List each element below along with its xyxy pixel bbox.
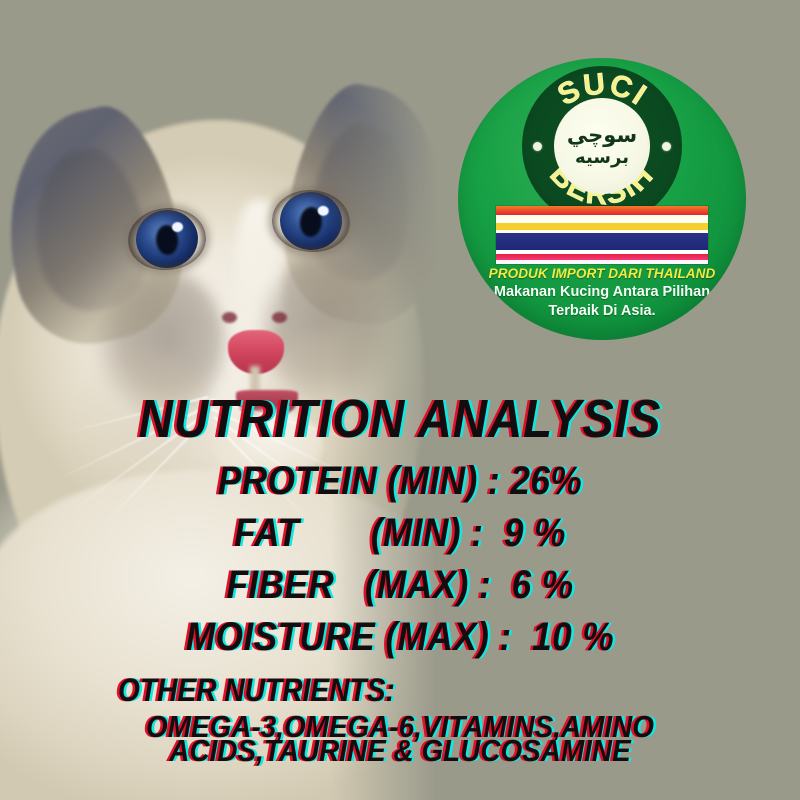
seal-dot-left-icon bbox=[533, 142, 542, 151]
suci-bersih-seal: SUCI BERSIH سوچي برسيه bbox=[522, 66, 682, 226]
seal-inner-disc: سوچي برسيه bbox=[554, 98, 650, 194]
cat-nostril-right bbox=[272, 312, 287, 323]
nutrition-row-fat: FAT (MIN) : 9 % bbox=[234, 511, 566, 556]
jawi-text-suci: سوچي bbox=[567, 124, 637, 148]
poster-canvas: SUCI BERSIH سوچي برسيه PRODUK IMPORT DAR… bbox=[0, 0, 800, 800]
cat-nostril-left bbox=[222, 312, 237, 323]
nutrition-row-moisture: MOISTURE (MAX) : 10 % bbox=[186, 615, 614, 660]
badge-caption-origin: PRODUK IMPORT DARI THAILAND bbox=[458, 266, 746, 281]
jawi-text-bersih: برسيه bbox=[575, 148, 629, 168]
thailand-flag-icon bbox=[496, 206, 708, 264]
badge-caption-line-3: Terbaik Di Asia. bbox=[458, 303, 746, 319]
halal-badge: SUCI BERSIH سوچي برسيه PRODUK IMPORT DAR… bbox=[458, 58, 746, 340]
badge-caption-line-2: Makanan Kucing Antara Pilihan bbox=[458, 284, 746, 300]
other-nutrients-heading: OTHER NUTRIENTS: bbox=[118, 672, 395, 709]
nutrition-row-protein: PROTEIN (MIN) : 26% bbox=[218, 459, 582, 504]
seal-dot-right-icon bbox=[662, 142, 671, 151]
page-title: NUTRITION ANALYSIS bbox=[139, 388, 662, 450]
nutrition-row-fiber: FIBER (MAX) : 6 % bbox=[226, 563, 573, 608]
other-nutrients-line-2: ACIDS,TAURINE & GLUCOSAMINE bbox=[169, 733, 630, 769]
